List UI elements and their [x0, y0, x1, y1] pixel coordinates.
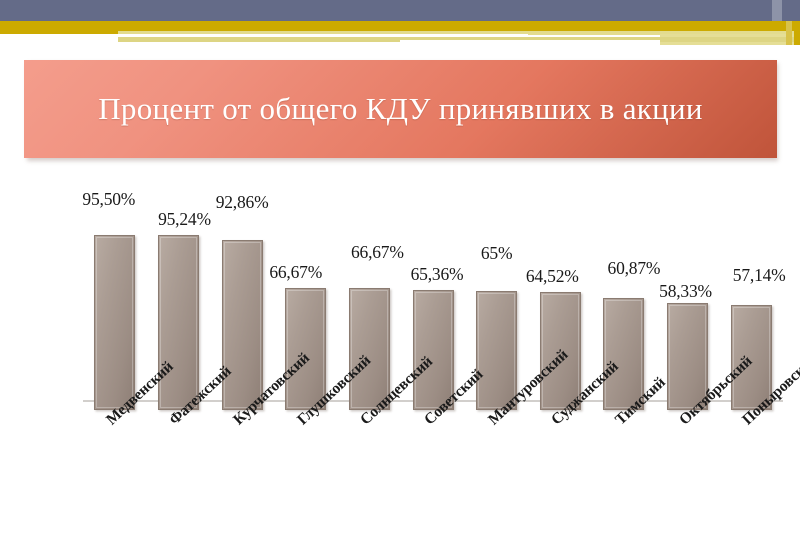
- bar-value-label-0: 95,50%: [82, 189, 135, 210]
- bar-1: [158, 235, 199, 410]
- bar-value-label-6: 65%: [481, 243, 512, 264]
- page-title: Процент от общего КДУ принявших в акции: [98, 91, 703, 127]
- bar-value-label-7: 64,52%: [526, 266, 579, 287]
- header-gold-notch: [0, 31, 118, 34]
- bar-value-label-1: 95,24%: [158, 209, 211, 230]
- header-gold-band: [0, 21, 800, 31]
- bar-value-label-2: 92,86%: [216, 192, 269, 213]
- header-gold-strip-far-right: [794, 21, 800, 45]
- bar-value-label-10: 57,14%: [733, 265, 786, 286]
- bar-0: [94, 235, 135, 410]
- chart-plot-area: 95,50%95,24%92,86%66,67%66,67%65,36%65%6…: [83, 180, 783, 410]
- header-gold-strip-right: [786, 21, 792, 45]
- bar-chart: 95,50%95,24%92,86%66,67%66,67%65,36%65%6…: [0, 170, 800, 533]
- header-slate-accent: [772, 0, 782, 21]
- presentation-slide: Процент от общего КДУ принявших в акции …: [0, 0, 800, 533]
- header-notch-center: [400, 40, 660, 45]
- bar-value-label-4: 66,67%: [351, 242, 404, 263]
- bar-value-label-3: 66,67%: [269, 262, 322, 283]
- bar-2: [222, 240, 263, 410]
- title-box: Процент от общего КДУ принявших в акции: [24, 60, 777, 158]
- bar-value-label-9: 58,33%: [659, 281, 712, 302]
- bar-value-label-5: 65,36%: [411, 264, 464, 285]
- header-slate-band: [0, 0, 800, 21]
- bar-value-label-8: 60,87%: [608, 258, 661, 279]
